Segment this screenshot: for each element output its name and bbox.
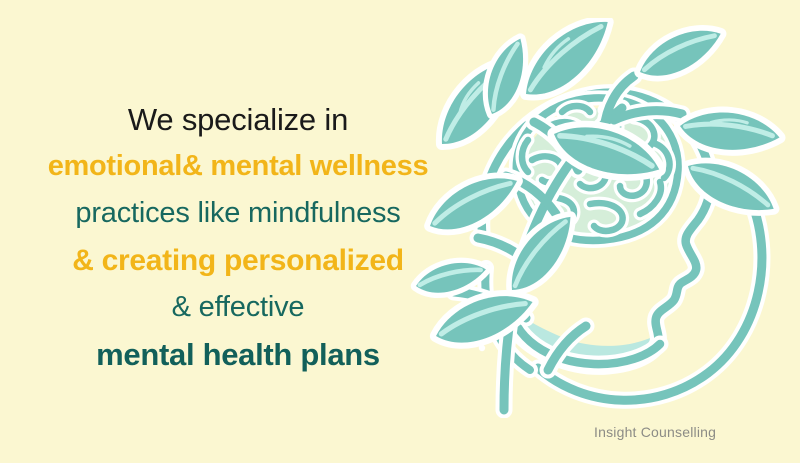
leaf-bud-dot (479, 345, 485, 351)
headline-line-5: & effective (18, 284, 458, 331)
headline-line-1: We specialize in (18, 96, 458, 143)
headline-line-3: practices like mindfulness (18, 190, 458, 237)
headline-block: We specialize in emotional& mental welln… (18, 96, 458, 378)
headline-line-2: emotional& mental wellness (18, 143, 458, 190)
banner-canvas: We specialize in emotional& mental welln… (0, 0, 800, 463)
leaf (677, 101, 783, 163)
illustration-svg (408, 18, 800, 418)
artwork-group (414, 18, 783, 410)
headline-line-6: mental health plans (18, 331, 458, 378)
illustration-head-with-leaves (408, 18, 800, 418)
brand-caption: Insight Counselling (594, 424, 716, 440)
leaf (633, 23, 728, 83)
headline-line-4: & creating personalized (18, 237, 458, 284)
